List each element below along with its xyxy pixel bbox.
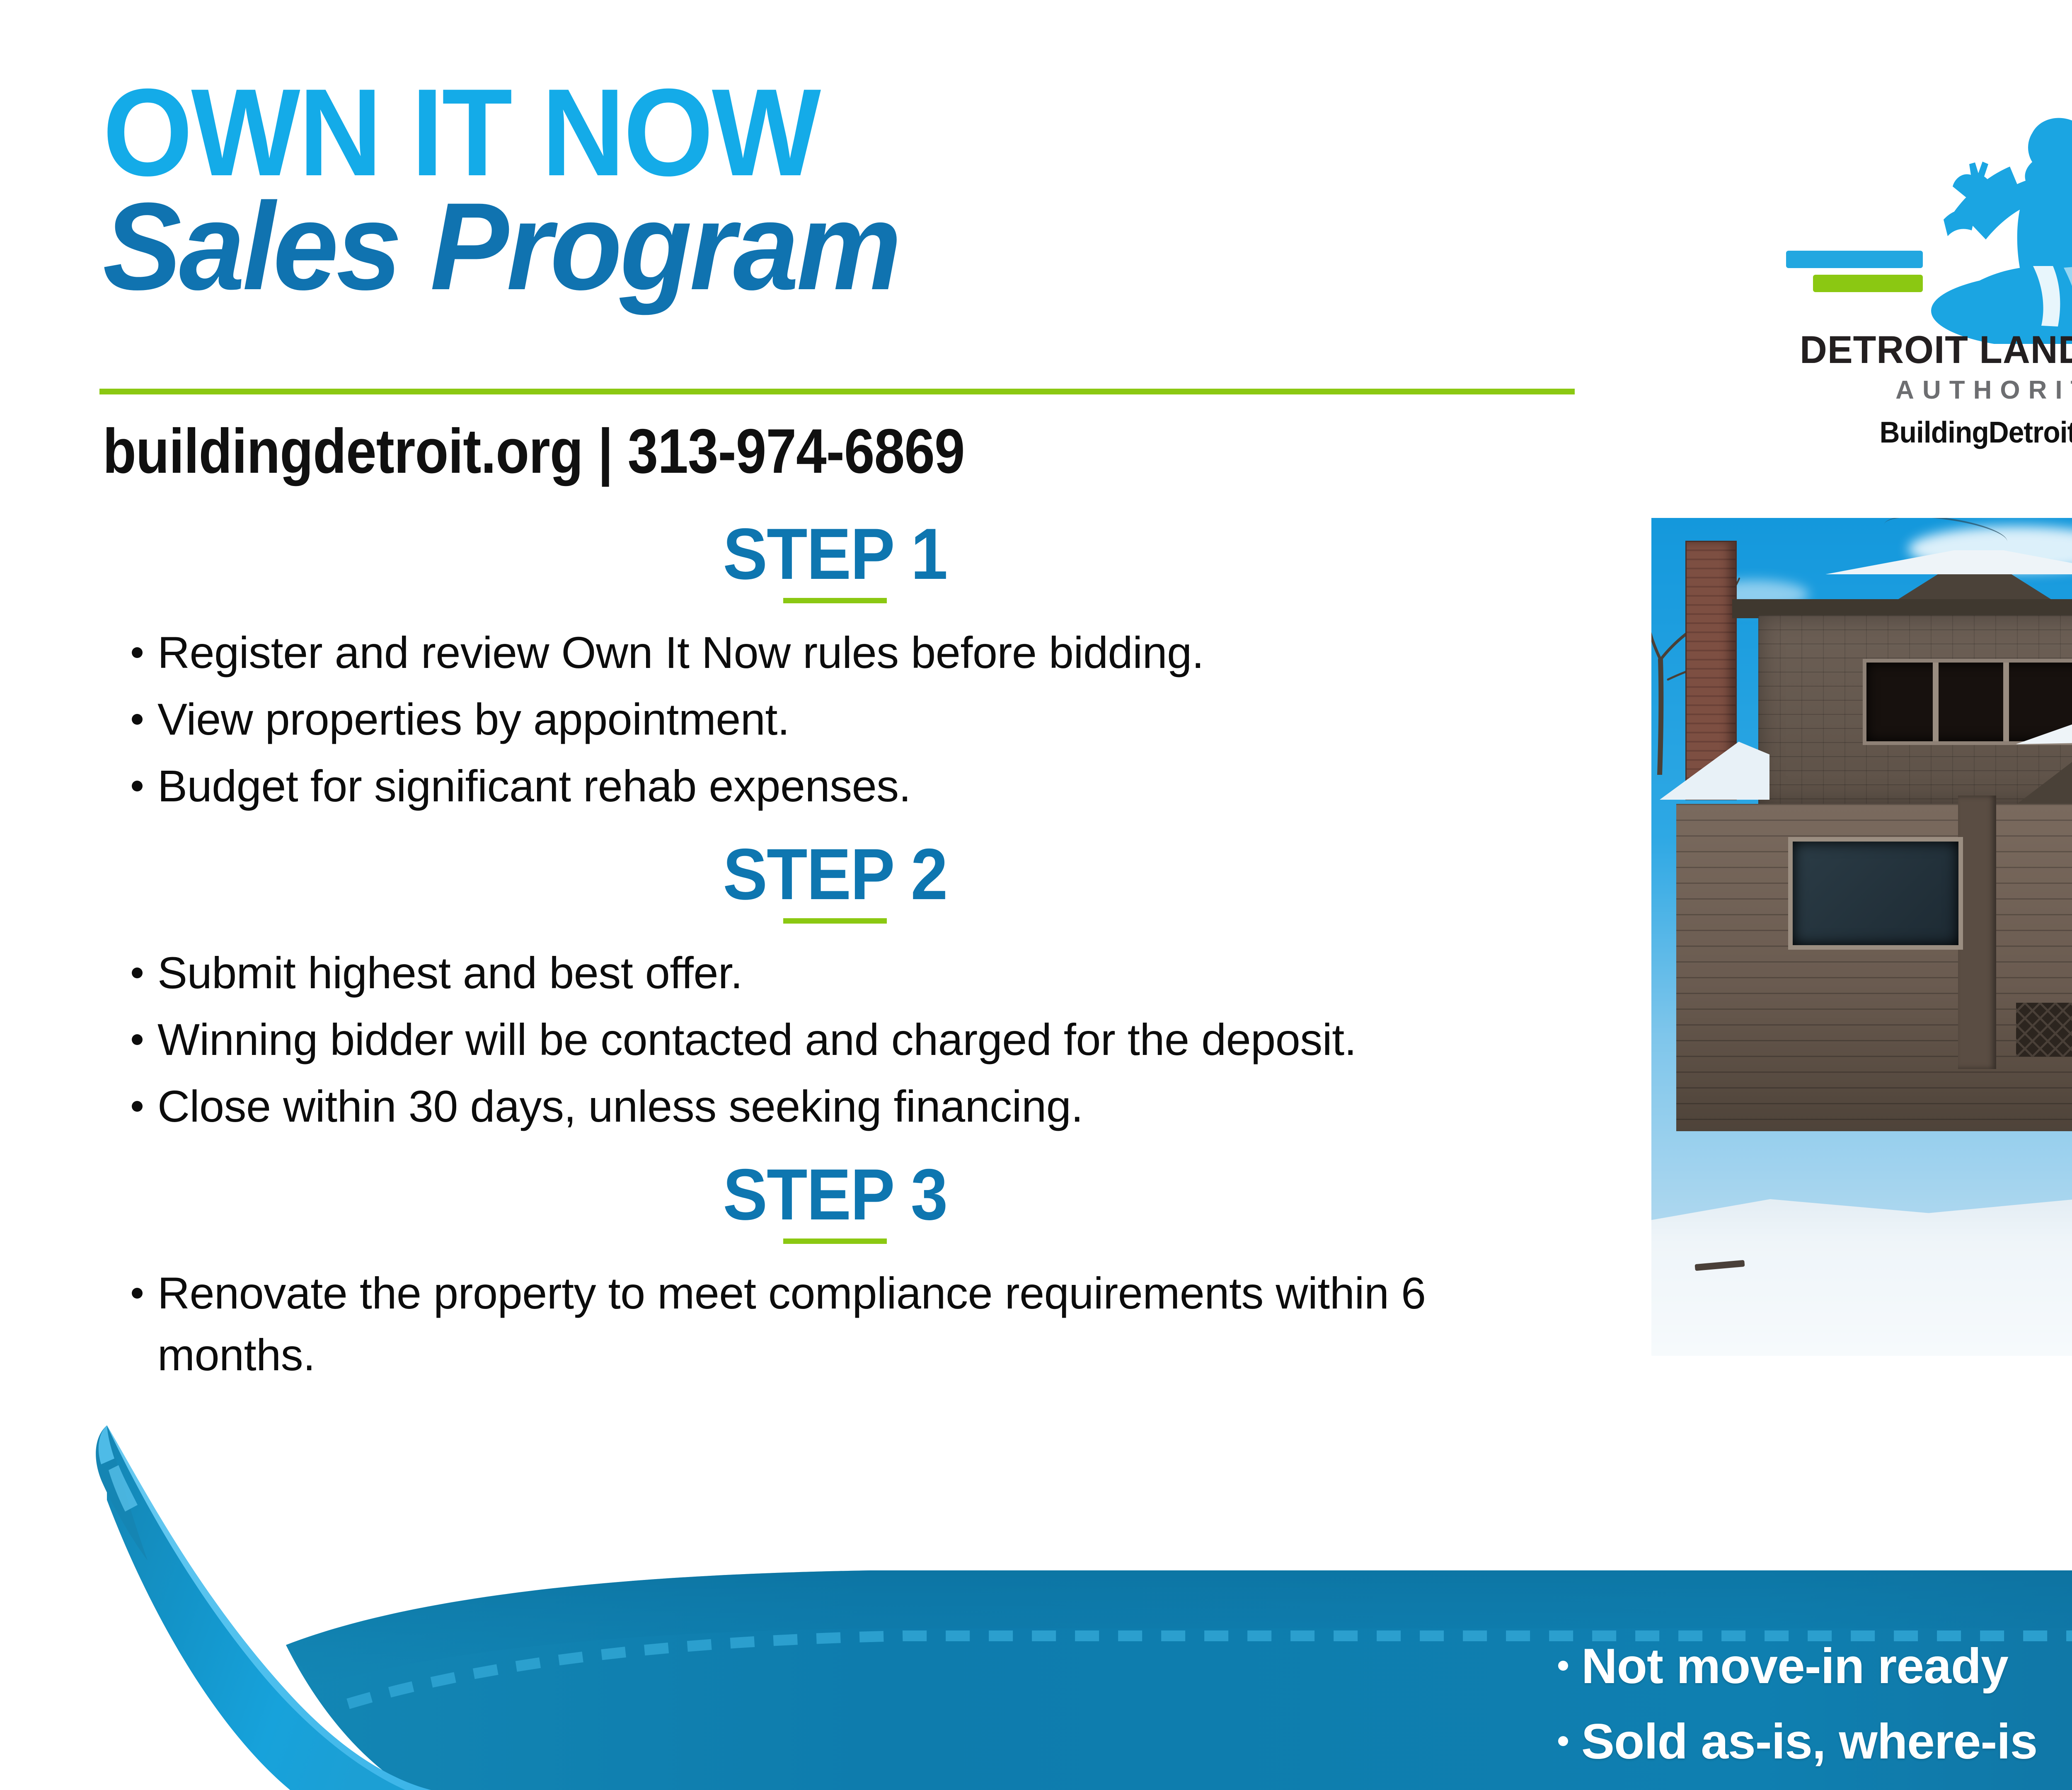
step-section-2: STEP 2 Submit highest and best offer. Wi… — [104, 838, 1566, 1137]
photo-porch-lattice — [2016, 1003, 2072, 1057]
banner-notes: Not move-in ready Sold as-is, where-is — [1542, 1628, 2072, 1780]
photo-window-mullion — [2003, 663, 2009, 741]
step-1-bullet-list: Register and review Own It Now rules bef… — [104, 622, 1566, 817]
list-item: Not move-in ready — [1542, 1628, 2072, 1704]
photo-porch-post — [1958, 796, 1996, 1069]
logo-bar-blue-left — [1786, 251, 1923, 268]
step-3-bullet-list: Renovate the property to meet compliance… — [104, 1262, 1566, 1386]
step-1-underline — [783, 598, 887, 603]
contact-line[interactable]: buildingdetroit.org | 313-974-6869 — [103, 415, 965, 488]
photo-upper-window — [1863, 659, 2072, 745]
step-1-title: STEP 1 — [454, 518, 1216, 590]
step-2-title: STEP 2 — [454, 838, 1216, 911]
property-photo — [1651, 518, 2072, 1356]
title-block: OWN IT NOW Sales Program — [103, 75, 1595, 310]
step-2-underline — [783, 918, 887, 924]
logo-bar-green-left — [1813, 275, 1923, 292]
photo-window-mullion — [1933, 663, 1939, 741]
steps-column: STEP 1 Register and review Own It Now ru… — [104, 518, 1566, 1391]
step-2-bullet-list: Submit highest and best offer. Winning b… — [104, 942, 1566, 1137]
step-3-title: STEP 3 — [454, 1159, 1216, 1231]
list-item: Sold as-is, where-is — [1542, 1704, 2072, 1779]
step-3-heading: STEP 3 — [421, 1159, 1249, 1244]
step-2-heading: STEP 2 — [421, 838, 1249, 924]
photo-front-window — [1788, 837, 1963, 950]
title-divider-rule — [99, 389, 1575, 394]
detroit-land-bank-logo: DETROIT LAND BANK AUTHORITY BuildingDetr… — [1765, 62, 2072, 447]
page-title-secondary: Sales Program — [103, 183, 1520, 310]
list-item: Winning bidder will be contacted and cha… — [104, 1009, 1566, 1070]
logo-wordmark: DETROIT LAND BANK AUTHORITY BuildingDetr… — [1765, 327, 2072, 450]
logo-url[interactable]: BuildingDetroit.org — [1780, 416, 2072, 450]
list-item: Budget for significant rehab expenses. — [104, 755, 1566, 817]
flyer-page: OWN IT NOW Sales Program buildingdetroit… — [0, 0, 2072, 1790]
list-item: Register and review Own It Now rules bef… — [104, 622, 1566, 683]
page-title-primary: OWN IT NOW — [103, 75, 1490, 190]
step-1-heading: STEP 1 — [421, 518, 1249, 603]
logo-name: DETROIT LAND BANK — [1772, 327, 2072, 372]
logo-accent-bars — [1765, 251, 2072, 305]
list-item: View properties by appointment. — [104, 688, 1566, 750]
step-section-1: STEP 1 Register and review Own It Now ru… — [104, 518, 1566, 817]
list-item: Close within 30 days, unless seeking fin… — [104, 1075, 1566, 1137]
list-item: Renovate the property to meet compliance… — [104, 1262, 1566, 1386]
logo-subtitle: AUTHORITY — [1765, 375, 2072, 405]
step-3-underline — [783, 1238, 887, 1244]
list-item: Submit highest and best offer. — [104, 942, 1566, 1004]
step-section-3: STEP 3 Renovate the property to meet com… — [104, 1159, 1566, 1386]
